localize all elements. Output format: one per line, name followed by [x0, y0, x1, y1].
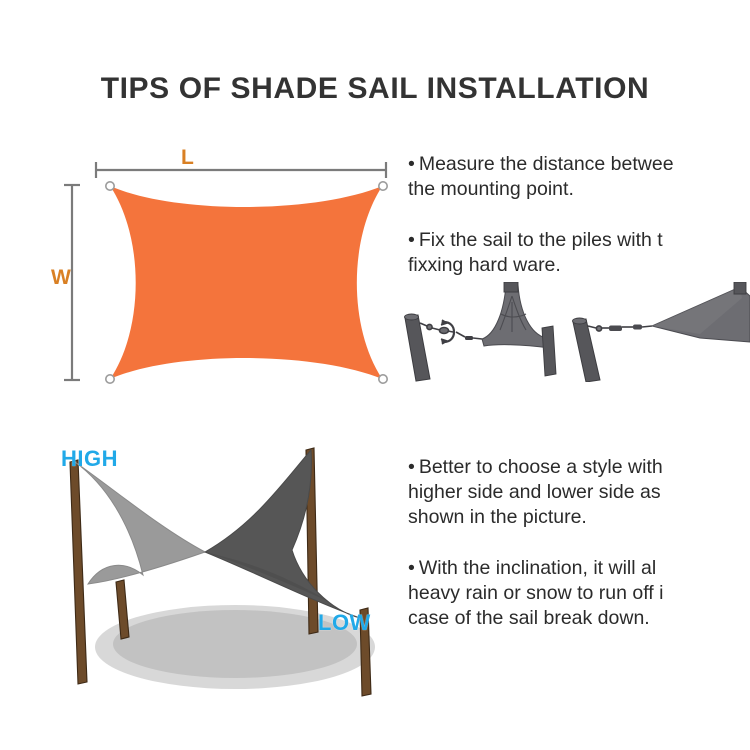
tip-line-text: heavy rain or snow to run off i: [408, 582, 663, 604]
length-dimension-line: [96, 162, 386, 178]
tip-line: fixxing hard ware.: [408, 253, 750, 278]
tip-line: shown in the picture.: [408, 505, 750, 530]
tip-line: the mounting point.: [408, 177, 750, 202]
hardware-illustration-right: [573, 282, 750, 382]
tips-list-bottom: •Better to choose a style with higher si…: [408, 455, 750, 645]
tip-line: •Fix the sail to the piles with t: [408, 228, 750, 253]
sail-dark-gray: [205, 450, 360, 618]
bullet-icon: •: [408, 228, 415, 253]
tips-list-top: •Measure the distance betwee the mountin…: [408, 152, 750, 282]
hardware-illustrations: [400, 282, 750, 382]
sail-dimension-diagram: [30, 140, 400, 405]
tip-line: •Better to choose a style with: [408, 455, 750, 480]
sail-style-diagram: [30, 432, 410, 717]
turnbuckle-hardware-left: [420, 320, 482, 344]
tip-line-text: Fix the sail to the piles with t: [419, 229, 663, 251]
grommet-bottom-right: [379, 375, 387, 383]
tip-line-text: case of the sail break down.: [408, 607, 650, 629]
bullet-icon: •: [408, 455, 415, 480]
post-upper-left: [504, 282, 518, 292]
pole-back-left: [70, 460, 87, 684]
grommet-bottom-left: [106, 375, 114, 383]
tip-line-text: the mounting point.: [408, 178, 574, 200]
tip-line: •Measure the distance betwee: [408, 152, 750, 177]
low-label: LOW: [318, 610, 371, 636]
tip-line-text: Better to choose a style with: [419, 456, 663, 478]
tip-line-text: With the inclination, it will al: [419, 557, 656, 579]
sail-dimension-svg: [30, 140, 400, 405]
tip-line-text: Measure the distance betwee: [419, 153, 674, 175]
tip-line-text: higher side and lower side as: [408, 481, 661, 503]
page-title: TIPS OF SHADE SAIL INSTALLATION: [0, 72, 750, 106]
tip-line-text: shown in the picture.: [408, 506, 587, 528]
pole-right-top: [573, 318, 587, 324]
infographic-page: TIPS OF SHADE SAIL INSTALLATION: [0, 0, 750, 750]
tip-line: heavy rain or snow to run off i: [408, 581, 750, 606]
hardware-svg: [400, 282, 750, 382]
pole-left-top: [405, 314, 419, 320]
grommet-top-left: [106, 182, 114, 190]
tip-item: •Measure the distance betwee the mountin…: [408, 152, 750, 202]
tip-item: •Fix the sail to the piles with t fixxin…: [408, 228, 750, 278]
width-label: W: [51, 266, 71, 290]
tip-item: •Better to choose a style with higher si…: [408, 455, 750, 530]
tip-line: case of the sail break down.: [408, 606, 750, 631]
post-right-left: [542, 326, 556, 376]
sail-light-gray: [75, 462, 205, 584]
hardware-illustration-left: [405, 282, 557, 381]
length-label: L: [181, 146, 194, 170]
bullet-icon: •: [408, 556, 415, 581]
tip-item: •With the inclination, it will al heavy …: [408, 556, 750, 631]
sail-style-svg: [30, 432, 410, 717]
bullet-icon: •: [408, 152, 415, 177]
post-right-top: [734, 282, 746, 294]
orange-shade-sail: [110, 186, 382, 379]
tip-line-text: fixxing hard ware.: [408, 254, 561, 276]
high-label: HIGH: [61, 446, 118, 472]
grommet-top-right: [379, 182, 387, 190]
turnbuckle-hardware-right: [588, 325, 652, 332]
tip-line: •With the inclination, it will al: [408, 556, 750, 581]
tip-line: higher side and lower side as: [408, 480, 750, 505]
